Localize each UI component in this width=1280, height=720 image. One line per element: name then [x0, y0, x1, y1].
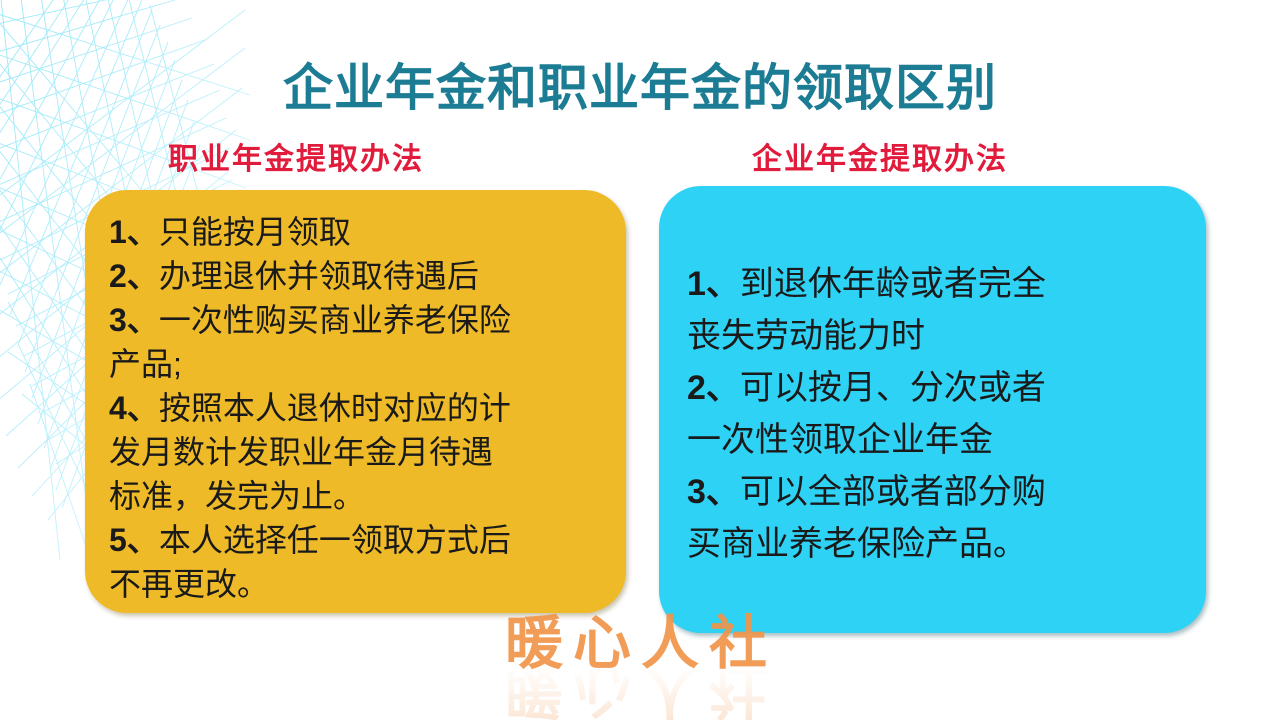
list-item-number: 2、: [687, 369, 740, 407]
page-title: 企业年金和职业年金的领取区别: [0, 48, 1280, 120]
list-item: 5、本人选择任一领取方式后: [109, 518, 610, 562]
list-item: 1、只能按月领取: [109, 210, 610, 254]
left-panel-content: 1、只能按月领取 2、办理退休并领取待遇后 3、一次性购买商业养老保险 产品; …: [85, 210, 626, 606]
list-item: 不再更改。: [109, 562, 610, 606]
list-item: 3、可以全部或者部分购: [687, 466, 1192, 518]
list-item: 4、按照本人退休时对应的计: [109, 386, 610, 430]
right-panel-heading: 企业年金提取办法: [752, 134, 1008, 178]
list-item-text: 一次性领取企业年金: [687, 421, 993, 459]
list-item-text: 到退休年龄或者完全: [740, 265, 1046, 303]
list-item-text: 发月数计发职业年金月待遇: [109, 434, 493, 470]
right-panel-card: 1、到退休年龄或者完全 丧失劳动能力时 2、可以按月、分次或者 一次性领取企业年…: [659, 186, 1206, 633]
list-item: 产品;: [109, 342, 610, 386]
list-item: 发月数计发职业年金月待遇: [109, 430, 610, 474]
left-panel-heading: 职业年金提取办法: [168, 134, 424, 178]
list-item: 2、办理退休并领取待遇后: [109, 254, 610, 298]
list-item-number: 2、: [109, 258, 159, 294]
list-item-number: 3、: [109, 302, 159, 338]
left-panel-card: 1、只能按月领取 2、办理退休并领取待遇后 3、一次性购买商业养老保险 产品; …: [85, 190, 626, 613]
list-item-text: 本人选择任一领取方式后: [159, 522, 511, 558]
list-item: 丧失劳动能力时: [687, 310, 1192, 362]
slide-canvas: 企业年金和职业年金的领取区别 职业年金提取办法 企业年金提取办法 1、只能按月领…: [0, 0, 1280, 720]
list-item-number: 4、: [109, 390, 159, 426]
list-item-text: 标准，发完为止。: [109, 478, 365, 514]
list-item-text: 买商业养老保险产品。: [687, 525, 1027, 563]
list-item-number: 1、: [687, 265, 740, 303]
list-item: 2、可以按月、分次或者: [687, 362, 1192, 414]
list-item-number: 5、: [109, 522, 159, 558]
list-item: 买商业养老保险产品。: [687, 518, 1192, 570]
list-item-text: 按照本人退休时对应的计: [159, 390, 511, 426]
list-item-text: 可以全部或者部分购: [740, 473, 1046, 511]
watermark-reflection: 暖心人社: [476, 654, 806, 720]
list-item: 1、到退休年龄或者完全: [687, 258, 1192, 310]
list-item: 3、一次性购买商业养老保险: [109, 298, 610, 342]
list-item-text: 不再更改。: [109, 566, 269, 602]
list-item-text: 办理退休并领取待遇后: [159, 258, 479, 294]
list-item-text: 产品;: [109, 346, 182, 382]
list-item-number: 1、: [109, 214, 159, 250]
list-item-number: 3、: [687, 473, 740, 511]
list-item-text: 一次性购买商业养老保险: [159, 302, 511, 338]
list-item: 标准，发完为止。: [109, 474, 610, 518]
list-item-text: 可以按月、分次或者: [740, 369, 1046, 407]
list-item: 一次性领取企业年金: [687, 414, 1192, 466]
right-panel-content: 1、到退休年龄或者完全 丧失劳动能力时 2、可以按月、分次或者 一次性领取企业年…: [659, 258, 1206, 570]
list-item-text: 丧失劳动能力时: [687, 317, 925, 355]
list-item-text: 只能按月领取: [159, 214, 351, 250]
